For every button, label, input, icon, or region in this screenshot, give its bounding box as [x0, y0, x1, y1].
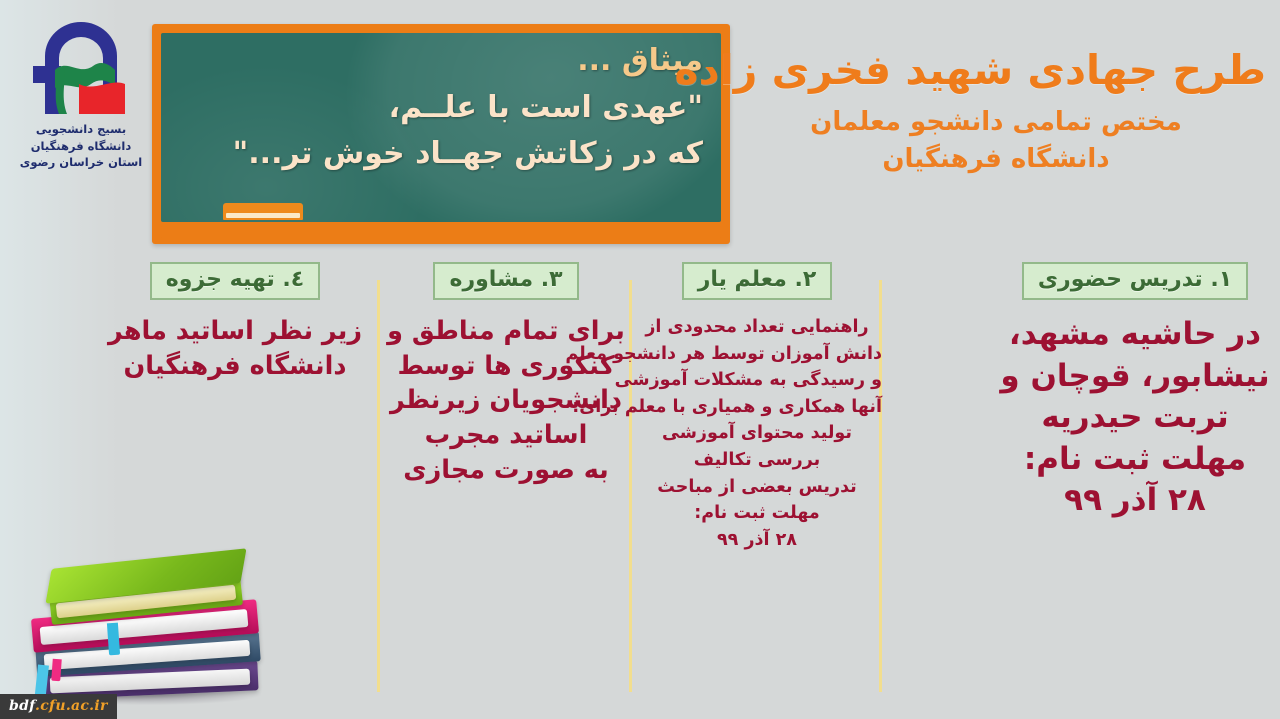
column-in-person-teaching: ۱. تدریس حضوری در حاشیه مشهد، نیشابور، ق… [990, 262, 1280, 522]
blackboard-quote-line-1: "عهدی است با علــم، [179, 90, 703, 125]
column-3-line-3: دانشجویان زیرنظر [380, 383, 632, 418]
bookmark-ribbon-cyan-upper [107, 623, 120, 656]
logo-caption-line-1: بسیج دانشجویی [6, 121, 156, 138]
column-heading-2: ۲. معلم یار [682, 262, 833, 300]
column-3-line-4: اساتید مجرب [380, 418, 632, 453]
column-body-1: در حاشیه مشهد، نیشابور، قوچان و تربت حید… [990, 314, 1280, 522]
page-subtitle: مختص تمامی دانشجو معلمان دانشگاه فرهنگیا… [726, 104, 1266, 178]
poster-canvas: بسیج دانشجویی دانشگاه فرهنگیان استان خرا… [0, 0, 1280, 719]
column-handout-preparation: ٤. تهیه جزوه زیر نظر اساتید ماهر دانشگاه… [90, 262, 380, 383]
column-teacher-assistant: ۲. معلم یار راهنمایی تعداد محدودی از دان… [632, 262, 882, 553]
column-1-line-3: تربت حیدریه [990, 397, 1280, 439]
column-2-line-4: آنها همکاری و همیاری با معلم برای: [632, 394, 882, 421]
blackboard-heading: میثاق ... [179, 43, 703, 78]
column-2-line-6: بررسی تکالیف [632, 447, 882, 474]
column-counseling: ۳. مشاوره برای تمام مناطق و کنکوری ها تو… [380, 262, 632, 487]
column-1-line-1: در حاشیه مشهد، [990, 314, 1280, 356]
stack-of-books-icon [14, 511, 284, 711]
column-2-line-8: مهلت ثبت نام: [632, 500, 882, 527]
watermark-suffix: .cfu.ac.ir [35, 698, 108, 714]
page-subtitle-line-1: مختص تمامی دانشجو معلمان [726, 104, 1266, 141]
column-body-4: زیر نظر اساتید ماهر دانشگاه فرهنگیان [90, 314, 380, 383]
blackboard-surface: میثاق ... "عهدی است با علــم، که در زکات… [161, 33, 721, 222]
column-2-line-9: ۲۸ آذر ۹۹ [632, 527, 882, 554]
column-4-line-1: زیر نظر اساتید ماهر [90, 314, 380, 349]
bookmark-ribbon-pink [51, 659, 62, 682]
basij-student-logo-icon [21, 14, 141, 119]
blackboard: میثاق ... "عهدی است با علــم، که در زکات… [152, 24, 730, 244]
watermark-prefix: bdf [9, 698, 35, 714]
logo-caption: بسیج دانشجویی دانشگاه فرهنگیان استان خرا… [6, 121, 156, 171]
column-2-line-2: دانش آموزان توسط هر دانشجو معلم [632, 341, 882, 368]
column-2-line-7: تدریس بعضی از مباحث [632, 474, 882, 501]
chalkboard-eraser-icon [223, 203, 303, 220]
column-1-line-2: نیشابور، قوچان و [990, 356, 1280, 398]
column-4-line-2: دانشگاه فرهنگیان [90, 349, 380, 384]
column-2-line-5: تولید محتوای آموزشی [632, 420, 882, 447]
column-3-line-2: کنکوری ها توسط [380, 349, 632, 384]
column-heading-3: ۳. مشاوره [433, 262, 578, 300]
logo-caption-line-3: استان خراسان رضوی [6, 154, 156, 171]
blackboard-text: میثاق ... "عهدی است با علــم، که در زکات… [179, 41, 703, 171]
page-title: طرح جهادی شهید فخری زاده [726, 46, 1266, 94]
blackboard-chalk-rail [161, 226, 721, 238]
header-block: طرح جهادی شهید فخری زاده مختص تمامی دانش… [726, 46, 1266, 178]
organization-logo: بسیج دانشجویی دانشگاه فرهنگیان استان خرا… [6, 14, 156, 174]
page-subtitle-line-2: دانشگاه فرهنگیان [726, 141, 1266, 178]
column-heading-4: ٤. تهیه جزوه [150, 262, 320, 300]
column-1-line-4: مهلت ثبت نام: [990, 439, 1280, 481]
column-3-line-1: برای تمام مناطق و [380, 314, 632, 349]
column-body-2: راهنمایی تعداد محدودی از دانش آموزان توس… [632, 314, 882, 553]
column-body-3: برای تمام مناطق و کنکوری ها توسط دانشجوی… [380, 314, 632, 487]
column-3-line-5: به صورت مجازی [380, 453, 632, 488]
column-2-line-1: راهنمایی تعداد محدودی از [632, 314, 882, 341]
column-2-line-3: و رسیدگی به مشکلات آموزشی [632, 367, 882, 394]
blackboard-quote-line-2: که در زکاتش جهــاد خوش تر..." [179, 136, 703, 171]
site-watermark: bdf.cfu.ac.ir [0, 694, 117, 719]
column-heading-1: ۱. تدریس حضوری [1022, 262, 1248, 300]
logo-caption-line-2: دانشگاه فرهنگیان [6, 138, 156, 155]
column-1-line-5: ۲۸ آذر ۹۹ [990, 480, 1280, 522]
